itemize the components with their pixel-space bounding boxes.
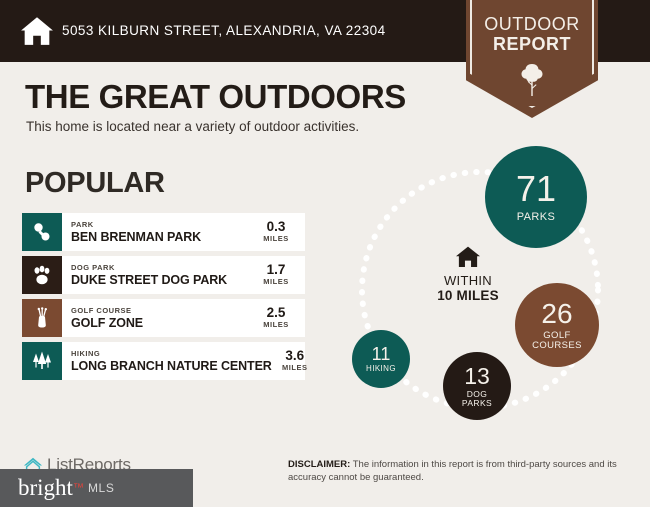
mls-label: MLS [88, 481, 114, 495]
page-subtitle: This home is located near a variety of o… [26, 119, 359, 134]
distance-unit: MILES [263, 234, 288, 244]
distance-value: 2.5 [267, 306, 286, 320]
tree-icon [518, 63, 546, 97]
list-item[interactable]: DOG PARK DUKE STREET DOG PARK 1.7 MILES [22, 256, 305, 294]
list-item-text: DOG PARK DUKE STREET DOG PARK [62, 256, 253, 294]
list-item-category: GOLF COURSE [71, 306, 253, 316]
stat-value: 13 [464, 365, 490, 388]
list-item-text: PARK BEN BRENMAN PARK [62, 213, 253, 251]
stat-label: PARKS [517, 212, 555, 224]
list-item-category: PARK [71, 220, 253, 230]
badge-title-line1: OUTDOOR [484, 14, 580, 34]
outdoor-report-badge: OUTDOOR REPORT [466, 0, 598, 118]
distance-unit: MILES [263, 277, 288, 287]
radius-label: 10 MILES [408, 288, 528, 303]
stat-value: 71 [516, 171, 556, 207]
within-10-miles-stats: 71 PARKS 26 GOLF COURSES 13 DOG PARKS 11… [330, 140, 650, 440]
stat-value: 26 [541, 300, 572, 328]
page-title: THE GREAT OUTDOORS [25, 78, 406, 116]
home-icon [20, 14, 54, 48]
list-item-text: GOLF COURSE GOLF ZONE [62, 299, 253, 337]
pine-trees-icon [22, 342, 62, 380]
list-item-category: DOG PARK [71, 263, 253, 273]
golf-bag-icon [22, 299, 62, 337]
list-item[interactable]: PARK BEN BRENMAN PARK 0.3 MILES [22, 213, 305, 251]
stat-label: GOLF COURSES [532, 331, 582, 351]
bright-wordmark: bright [18, 476, 73, 500]
stat-label-line2: PARKS [462, 398, 492, 408]
disclaimer: DISCLAIMER: The information in this repo… [288, 459, 630, 484]
list-item-category: HIKING [71, 349, 272, 359]
list-item[interactable]: GOLF COURSE GOLF ZONE 2.5 MILES [22, 299, 305, 337]
distance-unit: MILES [263, 320, 288, 330]
badge-title: OUTDOOR REPORT [466, 14, 598, 54]
stat-label-line2: COURSES [532, 340, 582, 351]
list-item-distance: 1.7 MILES [253, 256, 305, 294]
paw-print-icon [22, 256, 62, 294]
list-item-text: HIKING LONG BRANCH NATURE CENTER [62, 342, 272, 380]
stat-label: DOG PARKS [462, 390, 492, 408]
list-item-name: GOLF ZONE [71, 316, 253, 330]
distance-value: 1.7 [267, 263, 286, 277]
home-icon [455, 245, 481, 269]
stat-circle-dog-parks[interactable]: 13 DOG PARKS [443, 352, 511, 420]
park-tree-icon [22, 213, 62, 251]
popular-places-list: PARK BEN BRENMAN PARK 0.3 MILES DOG PARK… [22, 213, 305, 385]
list-item-distance: 3.6 MILES [272, 342, 324, 380]
stats-center-label: WITHIN 10 MILES [408, 245, 528, 303]
stat-circle-parks[interactable]: 71 PARKS [485, 146, 587, 248]
property-address: 5053 KILBURN STREET, ALEXANDRIA, VA 2230… [62, 23, 386, 38]
popular-heading: POPULAR [25, 167, 165, 200]
list-item-name: BEN BRENMAN PARK [71, 230, 253, 244]
list-item-distance: 2.5 MILES [253, 299, 305, 337]
badge-title-line2: REPORT [493, 34, 571, 54]
distance-value: 3.6 [285, 349, 304, 363]
bright-mls-watermark: bright™ MLS [0, 469, 193, 507]
disclaimer-label: DISCLAIMER: [288, 459, 350, 470]
footer: ListReports bright™ MLS DISCLAIMER: The … [0, 443, 650, 503]
stat-circle-hiking[interactable]: 11 HIKING [352, 330, 410, 388]
stat-value: 11 [372, 345, 391, 363]
stat-label: HIKING [366, 365, 396, 373]
trademark-symbol: ™ [73, 482, 84, 494]
list-item-name: DUKE STREET DOG PARK [71, 273, 253, 287]
list-item[interactable]: HIKING LONG BRANCH NATURE CENTER 3.6 MIL… [22, 342, 305, 380]
distance-unit: MILES [282, 363, 307, 373]
list-item-name: LONG BRANCH NATURE CENTER [71, 359, 272, 373]
list-item-distance: 0.3 MILES [253, 213, 305, 251]
within-label: WITHIN [408, 273, 528, 288]
distance-value: 0.3 [267, 220, 286, 234]
